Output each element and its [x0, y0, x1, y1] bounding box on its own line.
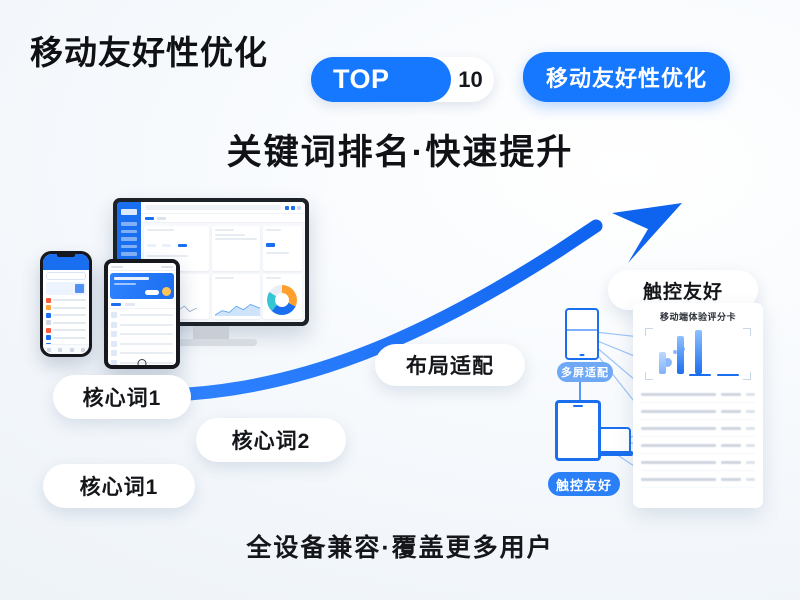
- card-line: [215, 238, 257, 240]
- tabbar-icon: [58, 348, 62, 352]
- header-tag-badge: 移动友好性优化: [523, 52, 730, 102]
- frame-corner: [645, 328, 653, 336]
- chart-baseline: [717, 374, 739, 376]
- page-title: 移动友好性优化: [30, 26, 268, 74]
- list-text: [120, 314, 173, 316]
- list-item: [46, 335, 86, 340]
- sidebar-item: [121, 245, 137, 249]
- tablet-mockup: [104, 259, 180, 369]
- list-text: [53, 337, 86, 339]
- list-icon: [46, 313, 51, 318]
- list-icon: [46, 328, 51, 333]
- dashboard-logo: [121, 209, 137, 215]
- row-name: [641, 461, 716, 464]
- frame-corner: [645, 372, 653, 380]
- card-heading: [215, 277, 234, 279]
- summary-badge: [266, 243, 275, 247]
- action-icon: [285, 206, 289, 210]
- tab: [157, 217, 166, 220]
- list-text: [120, 333, 173, 335]
- card-line: [266, 252, 289, 254]
- table-row: [641, 403, 755, 420]
- card-heading: [266, 277, 281, 279]
- row-value: [721, 444, 741, 447]
- dashboard-tabs: [141, 214, 305, 223]
- phone-search-bar: [46, 272, 86, 280]
- mobile-score-card: 移动端体验评分卡: [633, 303, 763, 508]
- hero-title: [114, 277, 149, 280]
- tablet-home-button: [138, 359, 147, 365]
- row-delta: [746, 444, 755, 447]
- sidebar-item: [121, 252, 137, 256]
- frame-corner: [743, 372, 751, 380]
- filter-chip: [147, 244, 156, 248]
- tabbar-icon: [81, 348, 85, 352]
- top-badge-number: 10: [451, 60, 490, 99]
- poster-canvas: 移动友好性优化 TOP 10 移动友好性优化 关键词排名·快速提升: [0, 0, 800, 600]
- action-icon: [291, 206, 295, 210]
- phone-tabbar: [43, 344, 89, 354]
- list-item: [111, 322, 173, 328]
- card-heading: [215, 229, 234, 231]
- hero-icon: [162, 287, 171, 296]
- list-item: [111, 350, 173, 356]
- area-chart: [215, 300, 260, 316]
- list-icon: [111, 312, 117, 318]
- list-icon: [46, 320, 51, 325]
- list-text: [120, 362, 173, 364]
- row-delta: [746, 393, 755, 396]
- keyword-pill-2[interactable]: 核心词2: [196, 418, 346, 462]
- list-text: [53, 307, 86, 309]
- row-name: [641, 393, 716, 396]
- card-summary: [263, 226, 302, 271]
- list-item: [111, 341, 173, 347]
- list-text: [53, 299, 86, 301]
- phone-screen: [43, 254, 89, 354]
- hero-subtitle: [114, 283, 136, 285]
- list-item: [111, 331, 173, 337]
- list-icon: [111, 341, 117, 347]
- filter-chip: [162, 244, 171, 248]
- list-icon: [111, 331, 117, 337]
- row-value: [721, 478, 741, 481]
- scorecard-bar-chart: [645, 328, 751, 380]
- tab-active: [145, 217, 154, 220]
- card-area-chart: [212, 274, 260, 319]
- table-row: [641, 471, 755, 488]
- card-line: [215, 234, 245, 236]
- list-text: [120, 343, 173, 345]
- row-delta: [746, 461, 755, 464]
- multi-screen-pill: 多屏适配: [557, 362, 613, 382]
- list-text: [120, 352, 173, 354]
- scorecard-title: 移动端体验评分卡: [641, 310, 755, 323]
- list-icon: [111, 360, 117, 366]
- row-value: [721, 427, 741, 430]
- tablet-tabs: [108, 301, 176, 309]
- topbar-actions: [285, 206, 301, 210]
- list-text: [120, 324, 173, 326]
- keyword-pill-1[interactable]: 核心词1: [53, 375, 191, 419]
- list-text: [53, 322, 86, 324]
- tabbar-icon: [70, 348, 74, 352]
- monitor-stand: [193, 326, 229, 340]
- list-text: [53, 329, 86, 331]
- sidebar-item: [121, 222, 137, 226]
- table-row: [641, 420, 755, 437]
- card-line: [147, 255, 188, 257]
- list-icon: [46, 298, 51, 303]
- row-value: [721, 410, 741, 413]
- hero-button: [145, 290, 159, 295]
- frame-corner: [743, 328, 751, 336]
- table-row: [641, 437, 755, 454]
- table-row: [641, 386, 755, 403]
- scorecard-table: [641, 386, 755, 488]
- row-name: [641, 478, 716, 481]
- row-value: [721, 393, 741, 396]
- tablet-icon: [565, 308, 599, 360]
- list-icon: [111, 350, 117, 356]
- table-row: [641, 454, 755, 471]
- donut-chart: [267, 285, 297, 315]
- row-name: [641, 427, 716, 430]
- list-item: [46, 320, 86, 325]
- tablet-menu: [161, 266, 173, 268]
- bar-3: [695, 330, 702, 374]
- row-value: [721, 461, 741, 464]
- phone-mockup: [40, 251, 92, 357]
- tablet-topbar: [108, 263, 176, 271]
- avatar: [297, 206, 301, 210]
- list-icon: [111, 322, 117, 328]
- phone-promo-card: [46, 282, 86, 295]
- list-item: [46, 328, 86, 333]
- tab: [125, 303, 135, 306]
- tablet-screen: [108, 263, 176, 365]
- sidebar-item: [121, 230, 137, 234]
- filter-chip-active: [178, 244, 187, 248]
- phone-notch: [57, 253, 75, 257]
- list-text: [53, 314, 86, 316]
- keyword-pill-3[interactable]: 核心词1: [43, 464, 195, 508]
- tabbar-icon: [47, 348, 51, 352]
- touch-friendly-pill: 触控友好: [548, 472, 620, 496]
- footer-tagline: 全设备兼容·覆盖更多用户: [0, 528, 800, 564]
- list-icon: [46, 305, 51, 310]
- top-badge-label: TOP: [333, 64, 390, 95]
- bar-1: [659, 352, 666, 374]
- list-item: [46, 298, 86, 303]
- row-delta: [746, 478, 755, 481]
- list-icon: [46, 335, 51, 340]
- row-name: [641, 410, 716, 413]
- list-item: [46, 313, 86, 318]
- top-rank-badge: TOP 10: [311, 57, 494, 102]
- search-input: [145, 205, 281, 210]
- sidebar-item: [121, 237, 137, 241]
- card-heading: [266, 229, 281, 231]
- list-item: [111, 312, 173, 318]
- tab-active: [111, 303, 121, 306]
- card-metric: [212, 226, 260, 271]
- row-name: [641, 444, 716, 447]
- tablet-hero-banner: [110, 273, 174, 299]
- tablet-logo: [111, 266, 123, 268]
- layout-adapt-pill[interactable]: 布局适配: [375, 344, 525, 386]
- card-heading: [147, 229, 174, 231]
- row-delta: [746, 427, 755, 430]
- row-delta: [746, 410, 755, 413]
- arrow-head: [612, 203, 682, 263]
- bar-2: [677, 336, 684, 374]
- chart-baseline: [689, 374, 711, 376]
- list-item: [46, 305, 86, 310]
- card-donut-chart: [263, 274, 302, 319]
- phone-icon: [555, 400, 601, 461]
- chart-bars: [659, 330, 702, 374]
- dashboard-topbar: [141, 202, 305, 214]
